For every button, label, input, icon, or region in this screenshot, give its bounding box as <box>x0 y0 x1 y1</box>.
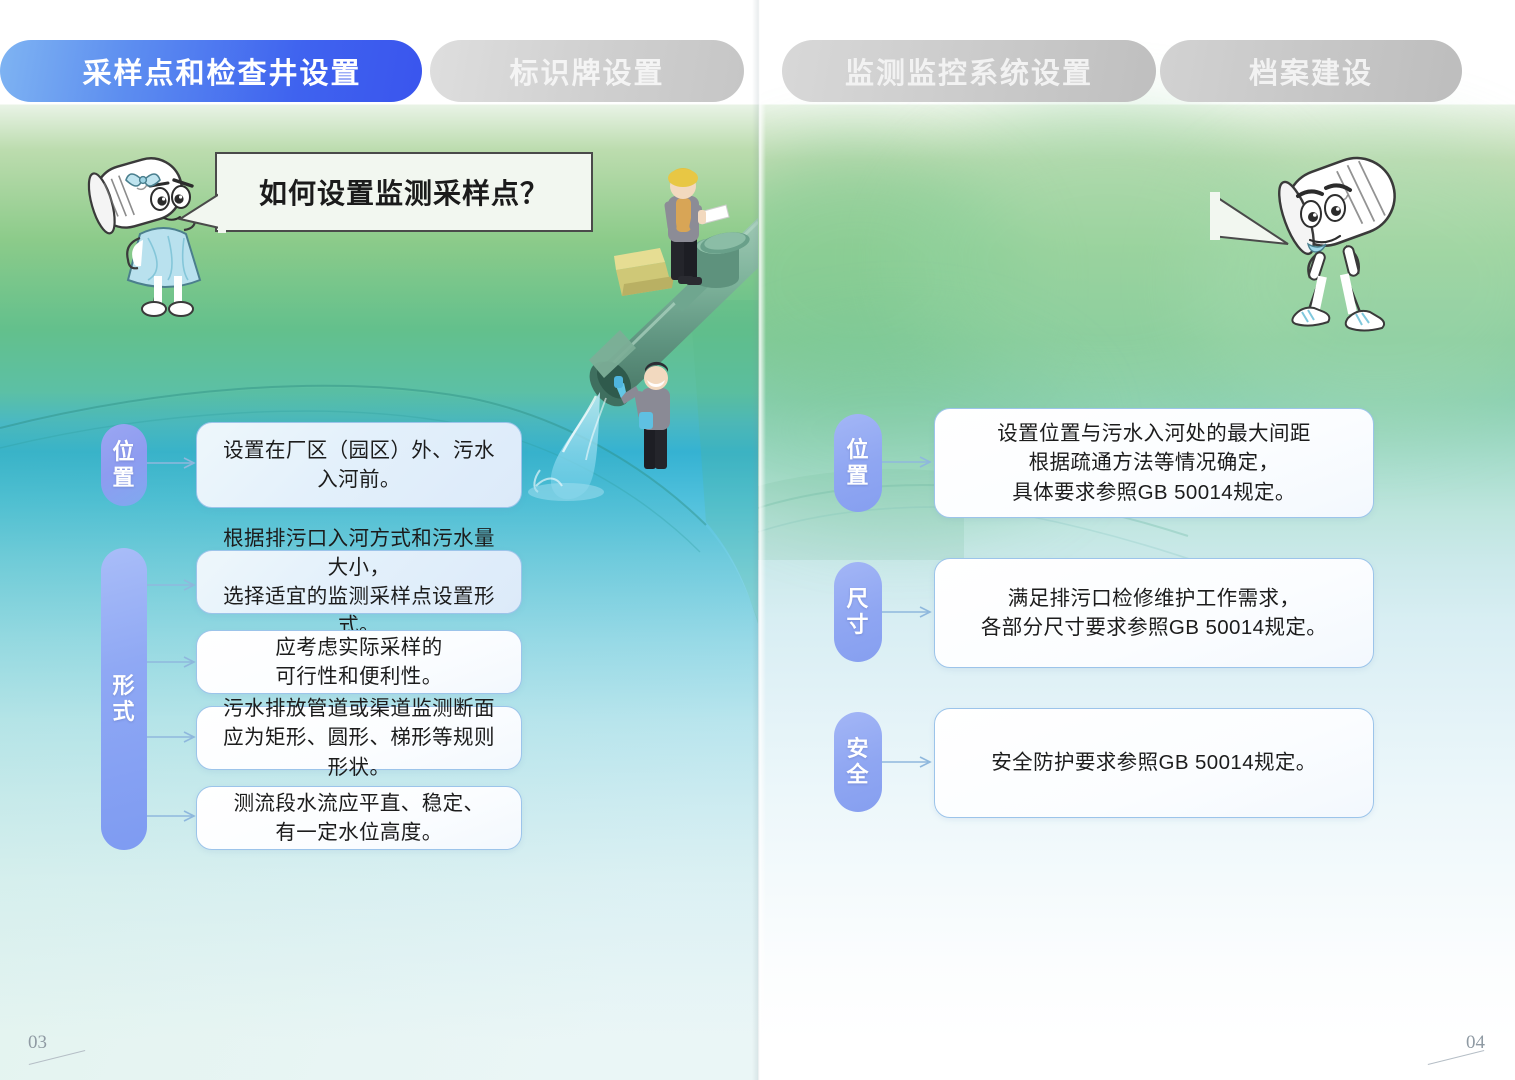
card-right-3: 安全防护要求参照GB 50014规定。 <box>934 708 1374 818</box>
pill-position-right: 位 置 <box>834 414 882 512</box>
page-number-left-value: 03 <box>28 1032 47 1053</box>
pill-char: 置 <box>846 463 869 489</box>
pill-safety-right: 安 全 <box>834 712 882 812</box>
card-line: 应为矩形、圆形、梯形等规则形状。 <box>223 726 495 778</box>
card-line: 应考虑实际采样的 <box>275 636 442 659</box>
card-right-1: 设置位置与污水入河处的最大间距 根据疏通方法等情况确定， 具体要求参照GB 50… <box>934 408 1374 518</box>
speech-bubble-tail-right <box>1210 188 1290 268</box>
speech-bubble-left-text: 如何设置监测采样点？ <box>259 172 549 212</box>
pill-position-left: 位 置 <box>101 424 147 506</box>
card-left-5: 测流段水流应平直、稳定、 有一定水位高度。 <box>196 786 522 850</box>
card-line: 设置在厂区（园区）外、污水入河前。 <box>223 439 495 491</box>
card-left-3: 应考虑实际采样的 可行性和便利性。 <box>196 630 522 694</box>
page-number-left: 03 <box>28 1032 86 1058</box>
pill-size-right: 尺 寸 <box>834 562 882 662</box>
page-number-right: 04 <box>1427 1032 1485 1058</box>
card-line: 安全防护要求参照GB 50014规定。 <box>991 751 1316 774</box>
speech-bubble-tail-left <box>178 185 226 255</box>
tab-signage[interactable]: 标识牌设置 <box>430 40 744 102</box>
pill-char: 式 <box>112 699 135 725</box>
page-gutter <box>752 0 766 1080</box>
card-line: 根据排污口入河方式和污水量大小， <box>223 527 495 579</box>
card-left-1: 设置在厂区（园区）外、污水入河前。 <box>196 422 522 508</box>
card-line: 测流段水流应平直、稳定、 <box>234 792 485 815</box>
tab-label: 标识牌设置 <box>509 50 664 92</box>
speech-bubble-left: 如何设置监测采样点？ <box>215 152 593 232</box>
infographic-page: 如何设置监测采样点？ 位 置 形 式 设置在厂区（园区）外、污水入河前。 <box>0 0 1515 1080</box>
tab-sampling-points[interactable]: 采样点和检查井设置 <box>0 40 422 102</box>
pill-char: 尺 <box>846 586 869 612</box>
section-tabbar: 采样点和检查井设置 标识牌设置 监测监控系统设置 档案建设 <box>0 40 1515 102</box>
tab-label: 监测监控系统设置 <box>845 50 1093 92</box>
tab-archive[interactable]: 档案建设 <box>1160 40 1462 102</box>
pill-char: 全 <box>846 762 869 788</box>
card-line: 设置位置与污水入河处的最大间距 <box>997 422 1311 445</box>
card-right-2: 满足排污口检修维护工作需求， 各部分尺寸要求参照GB 50014规定。 <box>934 558 1374 668</box>
card-line: 根据疏通方法等情况确定， <box>1029 451 1280 474</box>
card-line: 有一定水位高度。 <box>275 821 442 844</box>
card-line: 可行性和便利性。 <box>275 665 442 688</box>
pipe-boy-mascot <box>1268 140 1428 340</box>
card-line: 满足排污口检修维护工作需求， <box>1008 587 1301 610</box>
pill-form-left: 形 式 <box>101 548 147 850</box>
card-line: 具体要求参照GB 50014规定。 <box>1012 481 1296 504</box>
card-left-4: 污水排放管道或渠道监测断面 应为矩形、圆形、梯形等规则形状。 <box>196 706 522 770</box>
pill-char: 置 <box>112 465 135 491</box>
pill-char: 寸 <box>846 612 869 638</box>
card-line: 污水排放管道或渠道监测断面 <box>223 697 495 720</box>
card-line: 各部分尺寸要求参照GB 50014规定。 <box>981 616 1327 639</box>
tab-label: 档案建设 <box>1249 50 1373 92</box>
left-page: 如何设置监测采样点？ 位 置 形 式 设置在厂区（园区）外、污水入河前。 <box>0 0 758 1080</box>
card-left-2: 根据排污口入河方式和污水量大小， 选择适宜的监测采样点设置形式。 <box>196 550 522 614</box>
pill-char: 位 <box>112 439 135 465</box>
tab-label: 采样点和检查井设置 <box>82 50 361 92</box>
tab-monitoring-system[interactable]: 监测监控系统设置 <box>782 40 1156 102</box>
pill-char: 位 <box>846 437 869 463</box>
pill-char: 形 <box>112 673 135 699</box>
right-page: 如何设置检查井？ 位 置 尺 寸 安 全 设置位置与污水入河处的最大间距 <box>758 0 1515 1080</box>
pill-char: 安 <box>846 736 869 762</box>
